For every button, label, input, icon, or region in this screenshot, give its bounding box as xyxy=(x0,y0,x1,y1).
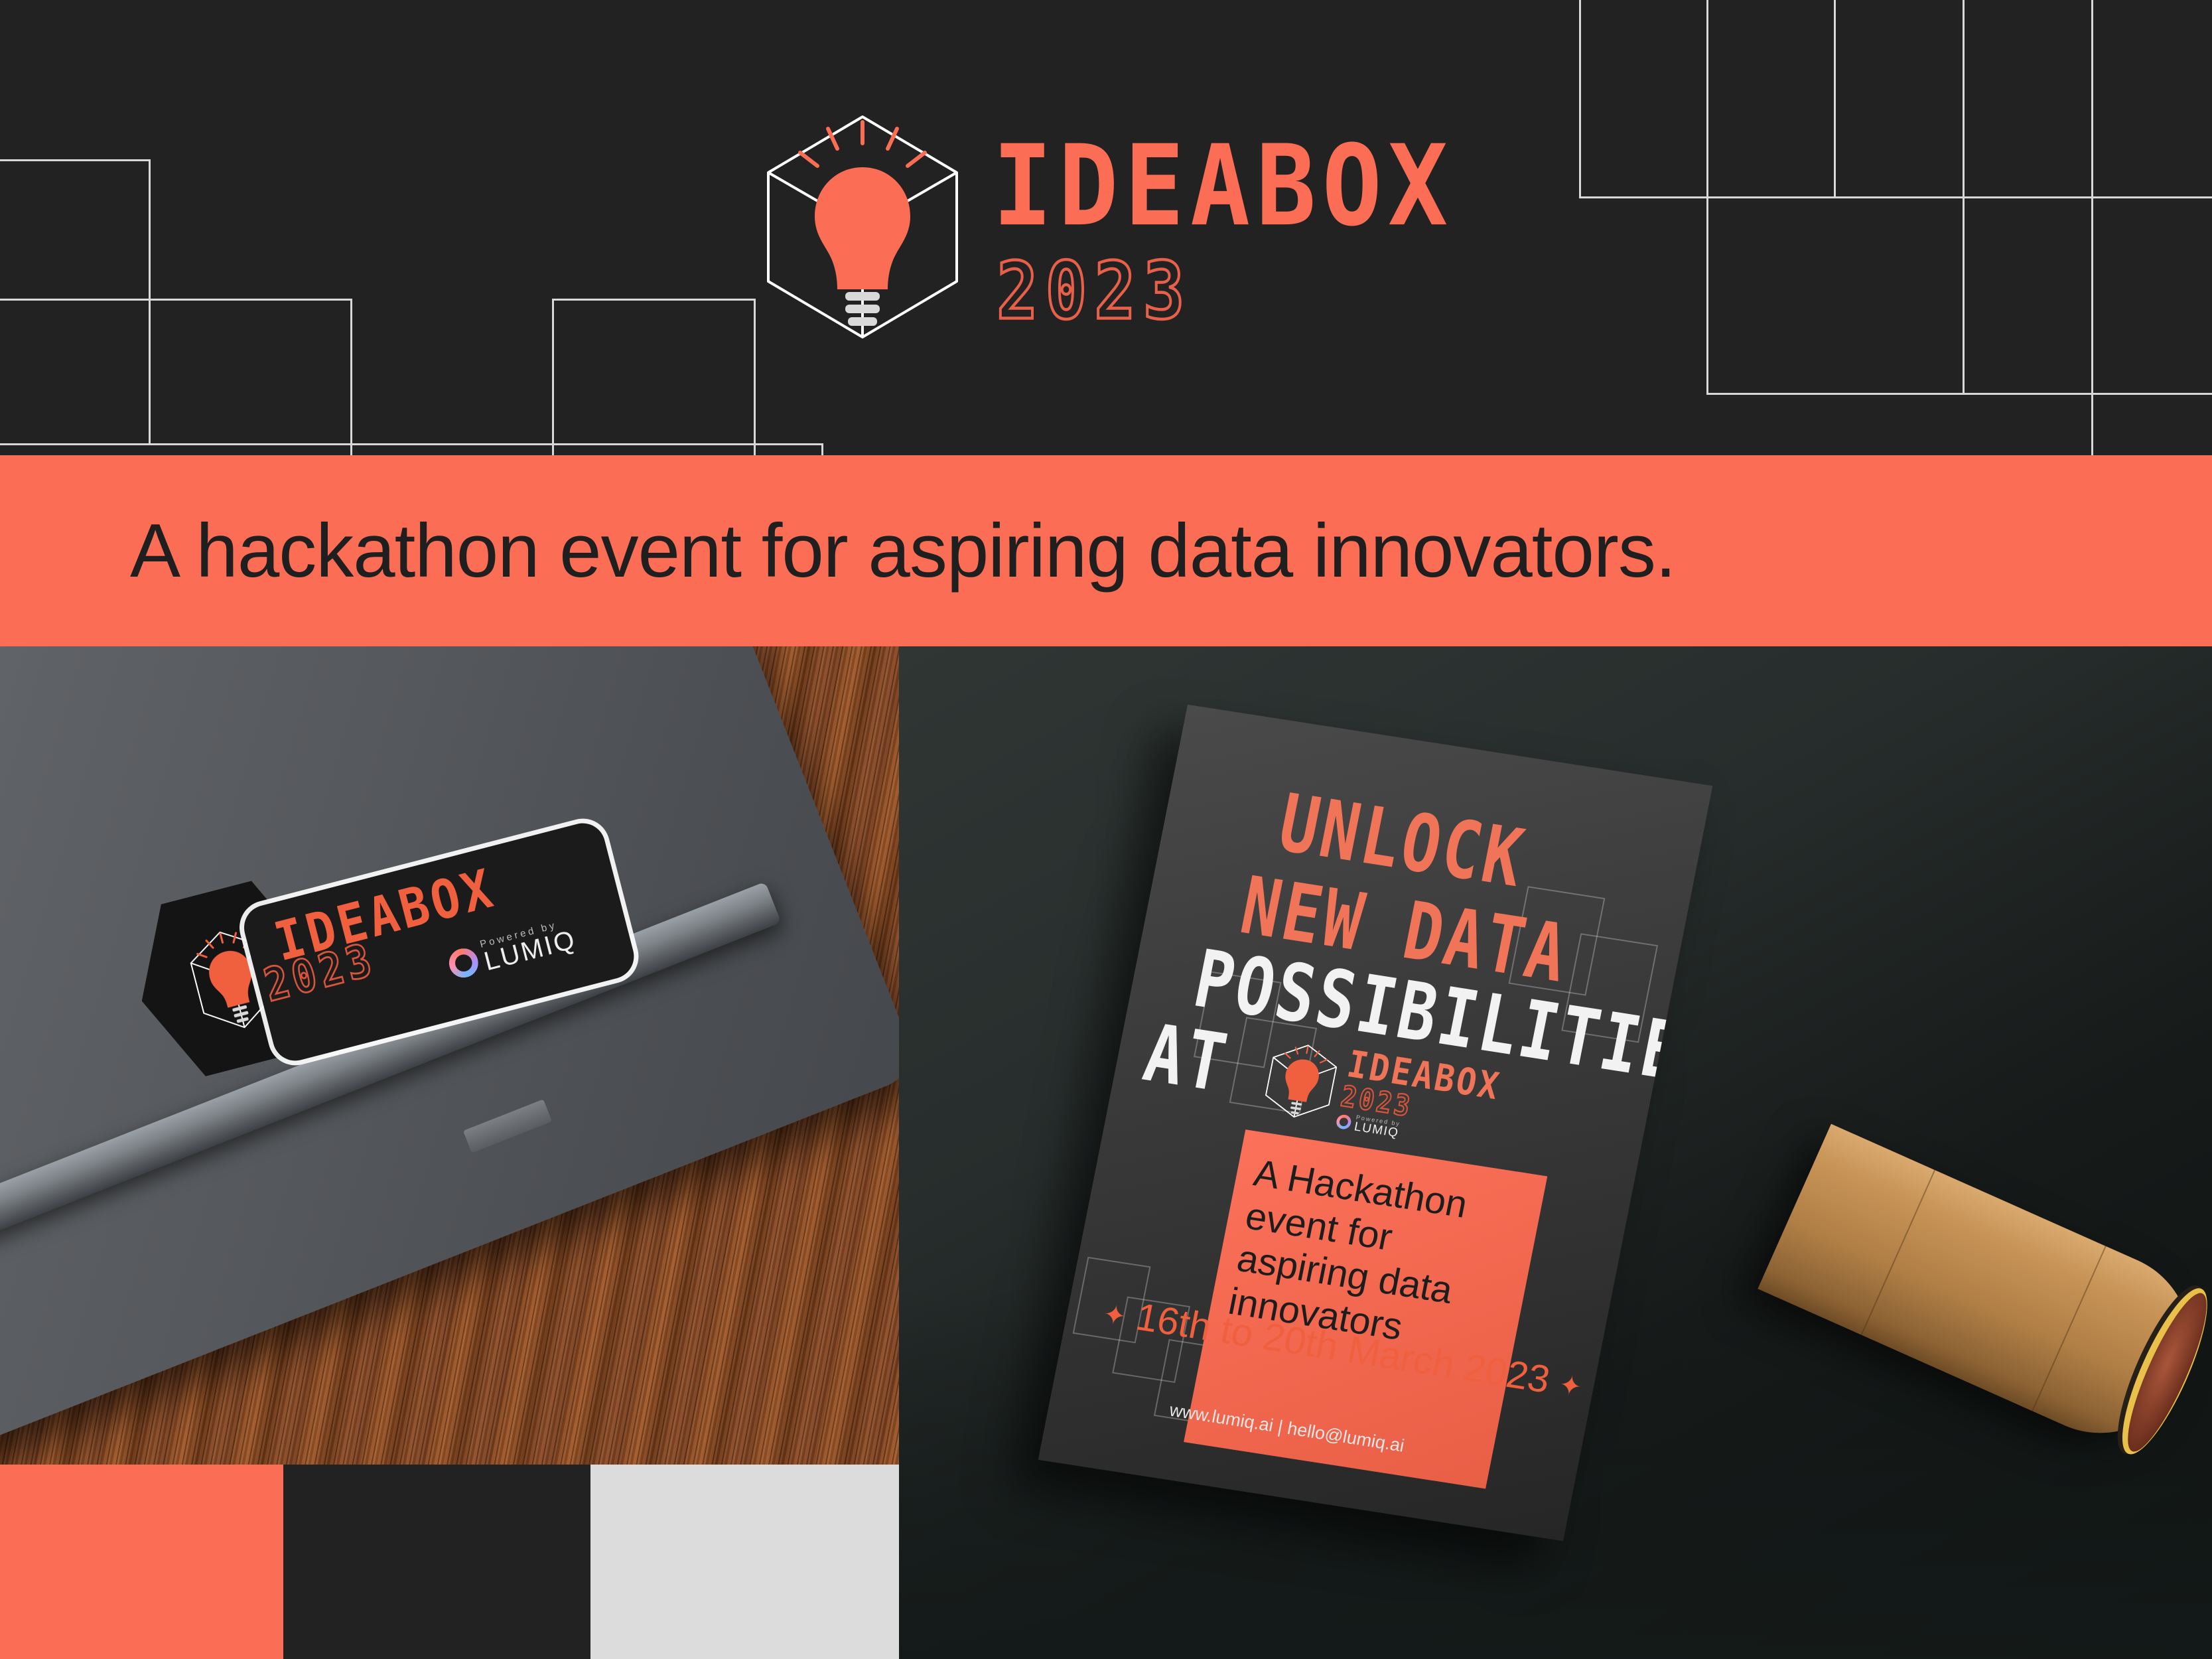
header-section: IDEABOX 2023 xyxy=(0,0,2212,455)
tube-seam xyxy=(2032,1246,2106,1411)
grid-line xyxy=(0,443,823,445)
tube-seam xyxy=(1861,1170,1935,1335)
grid-line xyxy=(0,299,352,301)
tagline-text: A hackathon event for aspiring data inno… xyxy=(130,508,1676,595)
wordmark-ideabox: IDEABOX xyxy=(993,131,1454,242)
dark-swatch xyxy=(283,1465,590,1659)
coral-swatch xyxy=(0,1465,283,1659)
grid-line xyxy=(1706,393,2212,395)
grid-line xyxy=(149,159,151,445)
grid-line xyxy=(0,159,150,161)
poster-headline-line-4: AT xyxy=(1139,1015,1235,1102)
spark-icon-left: ✦ xyxy=(1101,1299,1129,1331)
brand-logo-lockup: IDEABOX 2023 xyxy=(763,106,1466,345)
grid-line xyxy=(1579,196,2212,198)
lumiq-ring-icon xyxy=(446,945,482,981)
grid-line xyxy=(552,299,554,455)
tagline-band: A hackathon event for aspiring data inno… xyxy=(0,455,2212,646)
brand-presentation-board: IDEABOX 2023 A hackathon event for aspir… xyxy=(0,0,2212,1659)
spark-icon-right: ✦ xyxy=(1556,1370,1584,1402)
cube-lightbulb-icon xyxy=(1259,1037,1343,1125)
cube-lightbulb-icon xyxy=(763,111,962,340)
grid-line xyxy=(2091,0,2093,455)
grid-line xyxy=(552,299,755,301)
wordmark-year: 2023 xyxy=(997,252,1192,330)
poster-mockup: UNLOCK NEW DATA POSSIBILITIES AT xyxy=(899,646,2212,1659)
lumiq-ring-icon xyxy=(1335,1114,1352,1130)
grid-line xyxy=(754,299,756,455)
grid-line xyxy=(821,443,823,455)
color-swatch-row xyxy=(0,1465,899,1659)
laptop-sticker-mockup: IDEABOX 2023 Powered by LUMIQ xyxy=(0,646,899,1465)
grid-line xyxy=(350,299,352,455)
grid-line xyxy=(1579,0,1581,198)
grid-line xyxy=(1834,0,1836,198)
light-swatch xyxy=(590,1465,899,1659)
brand-wordmark: IDEABOX 2023 xyxy=(993,131,1454,321)
